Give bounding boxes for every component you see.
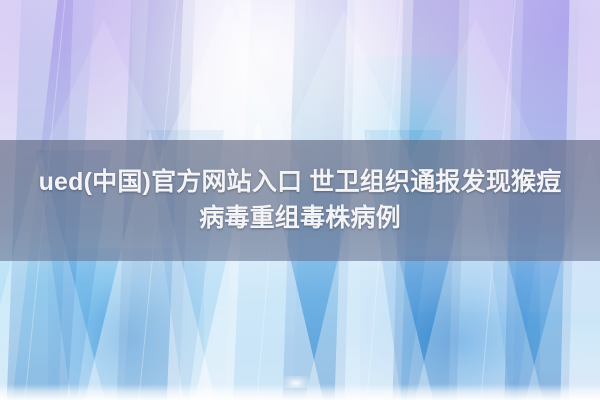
bottom-fade-strip	[0, 384, 600, 400]
headline: ued(中国)官方网站入口 世卫组织通报发现猴痘 病毒重组毒株病例	[0, 140, 600, 261]
headline-line-2: 病毒重组毒株病例	[199, 201, 401, 237]
headline-line-1: ued(中国)官方网站入口 世卫组织通报发现猴痘	[39, 165, 562, 201]
promo-banner: ued(中国)官方网站入口 世卫组织通报发现猴痘 病毒重组毒株病例	[0, 0, 600, 400]
